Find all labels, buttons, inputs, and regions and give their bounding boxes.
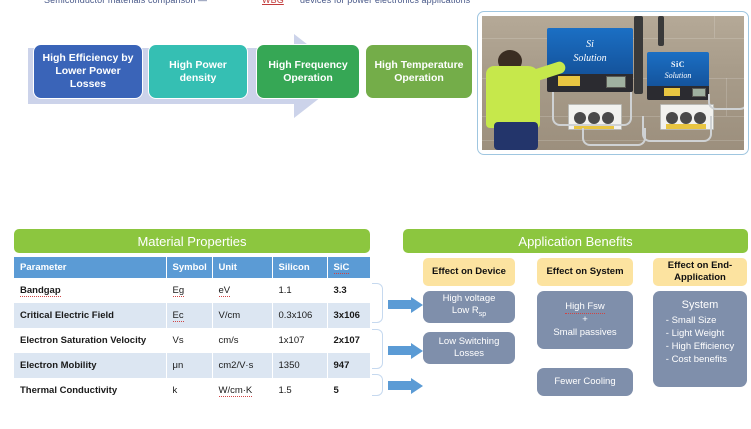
- inverter-sic-label-1: SiC: [671, 59, 685, 70]
- inverter-photo: Si Solution SiC Solution: [477, 11, 749, 155]
- bracket-group-2: [372, 329, 383, 369]
- flow-pill-high-temperature[interactable]: High Temperature Operation: [365, 44, 473, 99]
- cell-unit: V/cm: [212, 303, 272, 328]
- subscript-sp: sp: [479, 311, 486, 318]
- box-high-fsw-small-passives: High Fsw + Small passives: [537, 291, 633, 349]
- box-line-1: Fewer Cooling: [554, 376, 615, 389]
- column-header-effect-on-device: Effect on Device: [423, 258, 515, 286]
- inverter-si-label-2: Solution: [573, 52, 606, 66]
- conduit-pipe: [708, 94, 744, 110]
- inverter-si-display: [606, 76, 626, 88]
- cell-silicon: 1350: [272, 353, 327, 378]
- box-line-1: High Fsw: [565, 301, 605, 315]
- table-row: Thermal Conductivity k W/cm·K 1.5 5: [14, 378, 370, 403]
- warning-label: [558, 76, 580, 86]
- col-sic: SiC: [327, 257, 370, 278]
- table-row: Electron Mobility μn cm2/V·s 1350 947: [14, 353, 370, 378]
- box-line-2: +: [582, 314, 588, 327]
- cell-parameter: Thermal Conductivity: [14, 378, 166, 403]
- cell-symbol: Ec: [166, 303, 212, 328]
- inverter-sic-label-2: Solution: [665, 70, 692, 81]
- material-properties-table: Parameter Symbol Unit Silicon SiC Bandga…: [14, 257, 370, 403]
- conduit-pipe: [552, 92, 632, 126]
- cell-unit: cm2/V·s: [212, 353, 272, 378]
- system-benefit-list: - Small Size - Light Weight - High Effic…: [666, 314, 734, 366]
- cut-off-header-text: Semiconductor materials comparison — WBG…: [0, 0, 751, 6]
- box-line-2: Losses: [454, 348, 484, 361]
- photo-inner: Si Solution SiC Solution: [482, 16, 744, 150]
- bracket-group-3: [372, 374, 383, 396]
- cell-silicon: 0.3x106: [272, 303, 327, 328]
- cell-sic: 5: [327, 378, 370, 403]
- cell-sic: 3.3: [327, 278, 370, 303]
- cell-symbol: Vs: [166, 328, 212, 353]
- header-fragment-2: WBG: [262, 0, 284, 5]
- cell-symbol: μn: [166, 353, 212, 378]
- header-fragment-3: devices for power electronics applicatio…: [300, 0, 470, 5]
- material-properties-title: Material Properties: [14, 229, 370, 253]
- flow-pill-high-frequency[interactable]: High Frequency Operation: [256, 44, 360, 99]
- col-sic-label: SiC: [334, 262, 350, 274]
- inverter-sic-display: [692, 88, 706, 97]
- flow-pill-high-power-density[interactable]: High Power density: [148, 44, 248, 99]
- col-silicon: Silicon: [272, 257, 327, 278]
- cell-symbol: k: [166, 378, 212, 403]
- table-row: Electron Saturation Velocity Vs cm/s 1x1…: [14, 328, 370, 353]
- column-header-effect-on-system: Effect on System: [537, 258, 633, 286]
- col-parameter: Parameter: [14, 257, 166, 278]
- box-line-2: Low Rsp: [452, 305, 486, 321]
- application-benefits-title: Application Benefits: [403, 229, 748, 253]
- conduit-pipe: [642, 116, 712, 142]
- cell-silicon: 1.5: [272, 378, 327, 403]
- warning-label: [664, 88, 680, 96]
- table-row: Bandgap Eg eV 1.1 3.3: [14, 278, 370, 303]
- list-item: - Small Size: [666, 314, 734, 327]
- flow-pill-high-efficiency[interactable]: High Efficiency by Lower Power Losses: [33, 44, 143, 99]
- bracket-group-1: [372, 283, 383, 323]
- cell-sic: 2x107: [327, 328, 370, 353]
- col-unit: Unit: [212, 257, 272, 278]
- conduit-vertical: [634, 16, 643, 94]
- box-high-voltage-low-rsp: High voltage Low Rsp: [423, 291, 515, 323]
- column-header-effect-on-end-application: Effect on End-Application: [653, 258, 747, 286]
- conduit-pipe: [582, 128, 646, 146]
- cell-parameter: Electron Saturation Velocity: [14, 328, 166, 353]
- box-system-benefits: System - Small Size - Light Weight - Hig…: [653, 291, 747, 387]
- cell-sic: 947: [327, 353, 370, 378]
- cell-sic: 3x106: [327, 303, 370, 328]
- cell-parameter: Bandgap: [14, 278, 166, 303]
- inverter-si-label-1: Si: [586, 38, 594, 52]
- box-line-1: Low Switching: [439, 336, 500, 349]
- cell-unit: W/cm·K: [212, 378, 272, 403]
- col-symbol: Symbol: [166, 257, 212, 278]
- list-item: - High Efficiency: [666, 340, 734, 353]
- brick-line: [714, 16, 715, 38]
- cell-unit: cm/s: [212, 328, 272, 353]
- conduit-vertical: [658, 16, 664, 46]
- cell-parameter: Critical Electric Field: [14, 303, 166, 328]
- list-item: - Light Weight: [666, 327, 734, 340]
- worker-body: [486, 66, 540, 128]
- box-line-1: High voltage: [443, 293, 496, 306]
- box-title: System: [682, 299, 719, 312]
- box-low-switching-losses: Low Switching Losses: [423, 332, 515, 364]
- cell-symbol: Eg: [166, 278, 212, 303]
- box-line-3: Small passives: [553, 327, 616, 340]
- box-fewer-cooling: Fewer Cooling: [537, 368, 633, 396]
- cell-silicon: 1x107: [272, 328, 327, 353]
- cell-silicon: 1.1: [272, 278, 327, 303]
- cell-unit: eV: [212, 278, 272, 303]
- table-row: Critical Electric Field Ec V/cm 0.3x106 …: [14, 303, 370, 328]
- header-fragment-1: Semiconductor materials comparison —: [44, 0, 207, 5]
- table-header-row: Parameter Symbol Unit Silicon SiC: [14, 257, 370, 278]
- worker-pants: [494, 122, 538, 150]
- cell-parameter: Electron Mobility: [14, 353, 166, 378]
- list-item: - Cost benefits: [666, 353, 734, 366]
- inverter-sic: SiC Solution: [647, 52, 709, 88]
